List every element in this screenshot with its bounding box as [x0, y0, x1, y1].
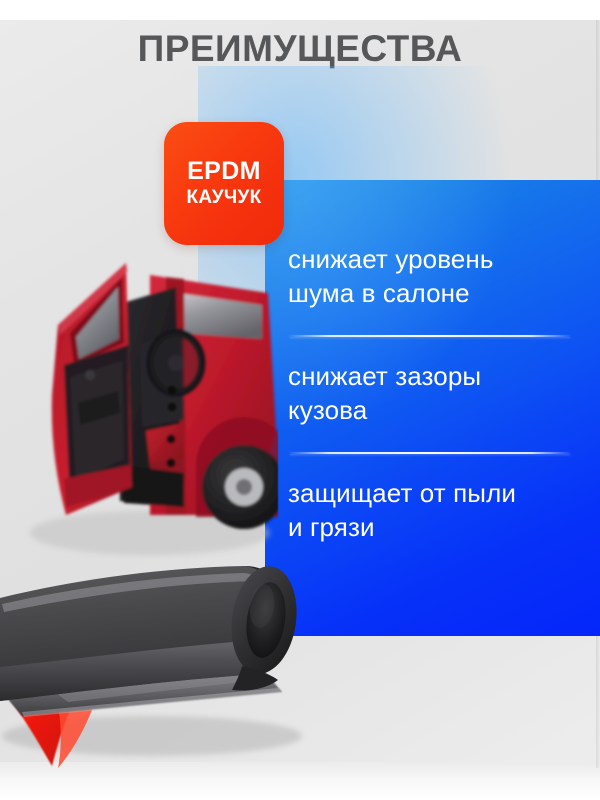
benefit-divider-1: [290, 335, 570, 337]
black-rubber-seal-profile-photo: [0, 540, 332, 790]
benefits-list: снижает уровень шума в салоне снижает за…: [288, 242, 578, 544]
promo-banner: ПРЕИМУЩЕСТВА: [0, 0, 600, 800]
epdm-badge-subtitle: КАУЧУК: [187, 186, 262, 210]
benefit-item-gaps: снижает зазоры кузова: [288, 359, 578, 427]
benefit-item-noise: снижает уровень шума в салоне: [288, 242, 578, 310]
red-car-open-door-photo: [0, 215, 278, 565]
epdm-badge-title: EPDM: [187, 157, 261, 185]
page-title: ПРЕИМУЩЕСТВА: [0, 28, 600, 70]
epdm-badge: EPDM КАУЧУК: [164, 122, 284, 245]
background-top-strip: [0, 0, 600, 22]
benefit-divider-2: [290, 452, 570, 454]
benefit-item-dust: защищает от пыли и грязи: [288, 476, 578, 544]
